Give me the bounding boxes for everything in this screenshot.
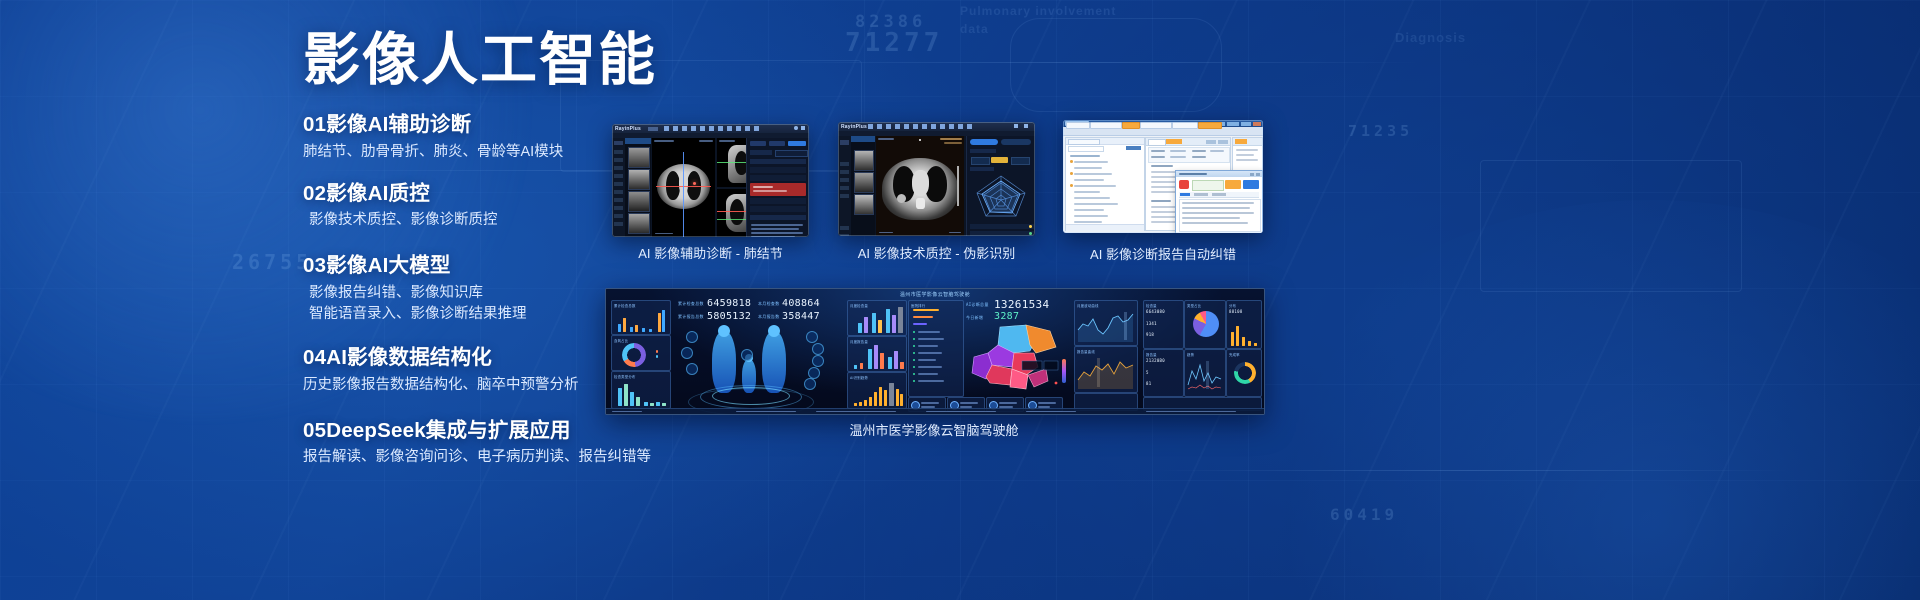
bg-text-1: Pulmonary involvement <box>960 4 1116 18</box>
bg-line-3 <box>1150 470 1790 471</box>
bg-text-3: Diagnosis <box>1395 30 1466 45</box>
dash-card-line-2: 报告量曲线 <box>1074 346 1138 393</box>
shot2-app-logo: RayinPlus <box>841 124 867 130</box>
dash-card-bar-4: 月度报告量 <box>847 336 907 372</box>
metric-2-value: 408864 <box>782 298 820 309</box>
dash-sub-card-3: 分布 88108 <box>1226 300 1262 349</box>
radar-chart-icon <box>973 172 1029 220</box>
caption-report-correction: AI 影像诊断报告自动纠错 <box>1063 244 1263 263</box>
bg-box-3 <box>1480 160 1742 292</box>
hologram-figures <box>678 325 838 411</box>
panel-num-3: 918 <box>1146 332 1154 337</box>
screenshot-report-correction[interactable] <box>1063 120 1263 233</box>
dash-card-ranking: 医院排行 <box>908 300 964 397</box>
dash-card-bar-2: 检查类型分布 <box>611 371 671 409</box>
dashboard-title: 温州市医学影像云智脑驾驶舱 <box>900 291 970 298</box>
screenshot-ai-artifact[interactable]: RayinPlus <box>838 122 1035 236</box>
dash-sub-card-2: 报告量 21320B0 5 81 <box>1143 349 1184 397</box>
dash-card-1-header: 累计检查总数 <box>614 303 636 308</box>
screenshot-ai-nodule[interactable]: RayinPlus <box>612 124 809 237</box>
metric-6-value: 3287 <box>994 311 1019 322</box>
dash-sub-card-pie: 类型占比 <box>1184 300 1226 349</box>
banner-root: 82386 71277 59055 26755 71235 60419 Pulm… <box>0 0 1920 600</box>
bg-number-4: 26755 <box>232 250 312 274</box>
panel-num-2: 1341 <box>1146 321 1157 326</box>
dash-sub-card-1: 检查量 6643080 1341 918 <box>1143 300 1184 349</box>
caption-ai-nodule: AI 影像辅助诊断 - 肺结节 <box>612 243 809 262</box>
metric-3-label: 累计报告总数 <box>678 314 704 320</box>
metric-4-value: 358447 <box>782 311 820 322</box>
feature-05-subtitle: 报告解读、影像咨询问诊、电子病历判读、报告纠错等 <box>303 447 723 468</box>
metric-1-value: 6459818 <box>707 298 751 309</box>
bg-text-2: data <box>960 22 989 36</box>
dash-card-bar-3: 月度检查量 <box>847 300 907 336</box>
shot1-app-logo: RayinPlus <box>615 126 641 132</box>
dash-sub-card-donut-2: 完成率 <box>1226 349 1262 397</box>
page-title: 影像人工智能 <box>303 30 657 92</box>
feature-item-05: 05DeepSeek集成与扩展应用 报告解读、影像咨询问诊、电子病历判读、报告纠… <box>303 418 723 469</box>
screenshot-dashboard[interactable]: 温州市医学影像云智脑驾驶舱 累计检查总数 血氧占比 检查类型分布 <box>605 288 1265 415</box>
dashboard-ticker <box>606 408 1264 414</box>
panel-num-6: 81 <box>1146 381 1151 386</box>
bg-line-2 <box>760 62 1420 63</box>
feature-05-title: 05DeepSeek集成与扩展应用 <box>303 418 723 444</box>
bg-number-6: 60419 <box>1330 505 1398 524</box>
bg-number-2: 71277 <box>845 28 943 58</box>
bg-number-5: 71235 <box>1348 122 1413 140</box>
caption-ai-artifact: AI 影像技术质控 - 伪影识别 <box>838 243 1035 262</box>
metric-2-label: 本月检查数 <box>758 301 780 307</box>
panel-num-7: 88108 <box>1229 309 1243 314</box>
region-map <box>964 323 1070 395</box>
panel-num-1: 6643080 <box>1146 309 1165 314</box>
ai-correction-dialog[interactable] <box>1175 170 1263 233</box>
panel-num-5: 5 <box>1146 370 1149 375</box>
metric-4-label: 本月报告数 <box>758 314 780 320</box>
metric-1-label: 累计检查总数 <box>678 301 704 307</box>
dash-sub-card-line-3: 趋势 <box>1184 349 1226 397</box>
metric-6-label: 今日新增 <box>966 315 983 321</box>
metric-5-value: 13261534 <box>994 298 1049 311</box>
panel-num-4: 21320B0 <box>1146 358 1165 363</box>
caption-dashboard: 温州市医学影像云智脑驾驶舱 <box>784 420 1084 439</box>
dash-card-bar-5: AI识别趋势 <box>847 372 907 409</box>
metric-5-label: AI诊断总量 <box>966 302 989 308</box>
bg-box-2 <box>1010 18 1222 112</box>
dash-card-line-1: 月度波动曲线 <box>1074 300 1138 346</box>
dash-card-donut-1: 血氧占比 <box>611 335 671 371</box>
metric-3-value: 5805132 <box>707 311 751 322</box>
dash-card-bar-1: 累计检查总数 <box>611 300 671 335</box>
